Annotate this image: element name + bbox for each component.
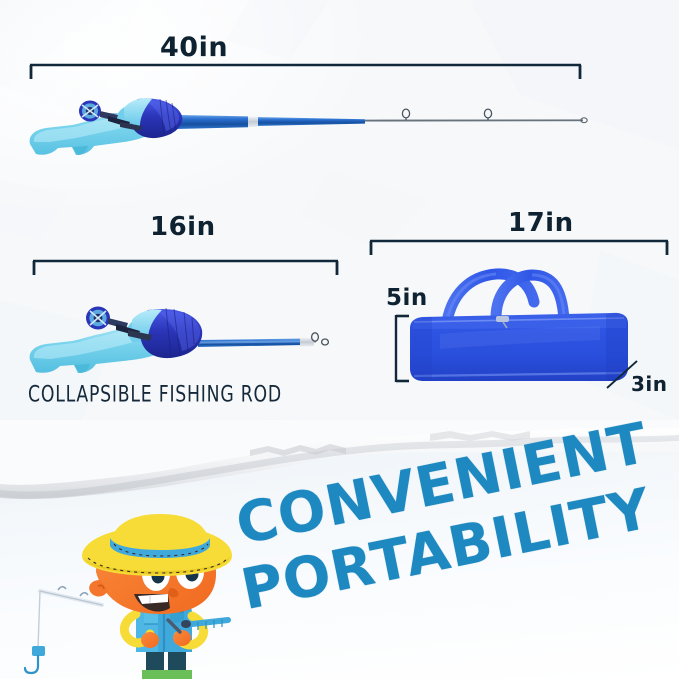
caption-collapsible-fishing-rod: COLLAPSIBLE FISHING ROD xyxy=(28,382,282,408)
fisherman-boy-mascot xyxy=(18,500,248,679)
fishing-rod-extended-illustration xyxy=(20,78,610,178)
fishing-rod-collapsed-illustration xyxy=(22,272,342,380)
label-bag-depth: 3in xyxy=(631,372,668,396)
label-rod-extended: 40in xyxy=(160,32,228,63)
label-bag-length: 17in xyxy=(508,208,574,238)
infographic-canvas: 40in xyxy=(0,0,679,679)
label-rod-collapsed: 16in xyxy=(150,212,216,242)
